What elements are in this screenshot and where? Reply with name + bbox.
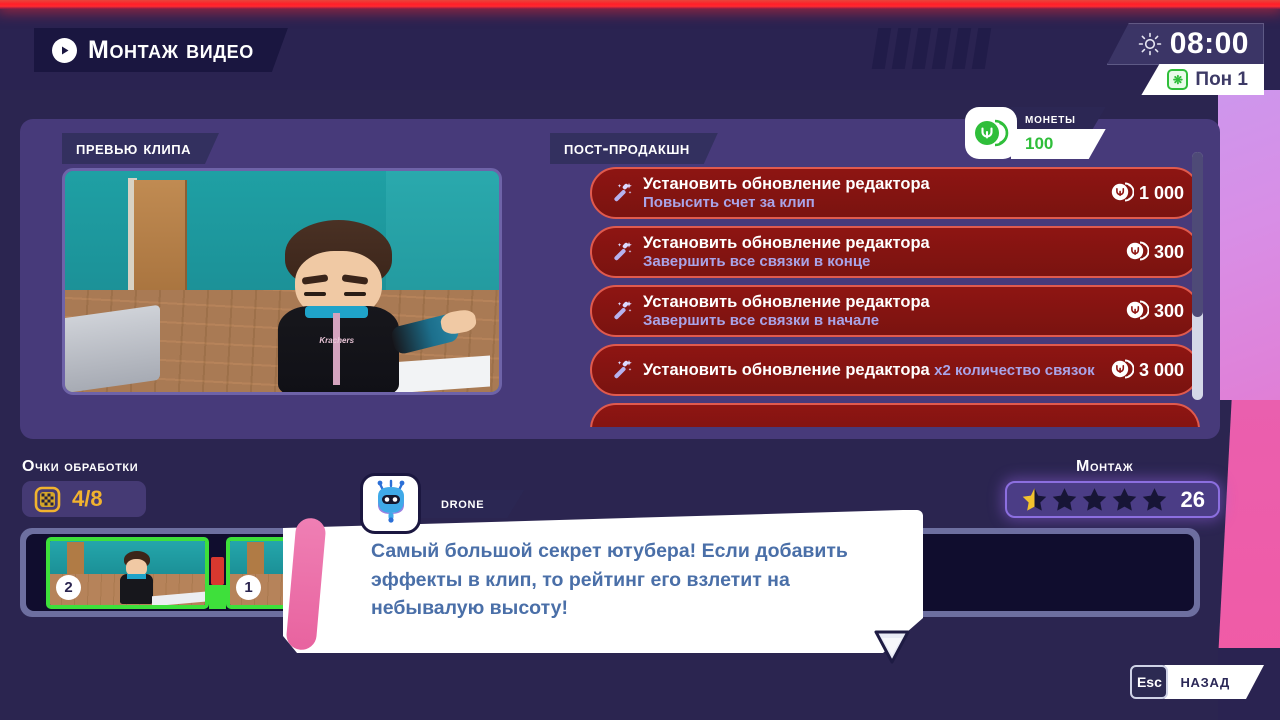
jersey-logo: Krachers — [298, 337, 374, 351]
sun-icon — [1138, 32, 1162, 56]
top-accent-stripe — [0, 0, 1280, 9]
montage-rating-value: 26 — [1181, 487, 1205, 513]
post-item-price-value: 3 000 — [1139, 360, 1184, 381]
post-item-price-value: 300 — [1154, 242, 1184, 263]
dialog-text: Самый большой секрет ютубера! Если добав… — [371, 537, 871, 623]
post-production-item[interactable]: Установить обновление редактора х2 колич… — [590, 344, 1200, 396]
day-widget: ❋ Пон 1 — [1141, 64, 1264, 95]
header-stripes-decor — [875, 28, 988, 69]
dialog-avatar — [360, 473, 421, 534]
dialog-speaker-name: Drone — [418, 490, 524, 518]
day-label: Пон 1 — [1195, 69, 1248, 91]
magic-wand-icon — [609, 298, 635, 324]
coin-icon — [1111, 182, 1134, 205]
joiner-green-marker — [209, 585, 226, 609]
post-item-price: 3 000 — [1101, 359, 1184, 382]
star-empty-icon — [1080, 486, 1109, 514]
timeline-clip-joiner[interactable] — [209, 537, 226, 609]
preview-section-header: Превью клипа — [62, 133, 219, 164]
calendar-icon: ❋ — [1167, 69, 1188, 90]
drone-avatar-icon — [370, 478, 412, 529]
post-item-price: 300 — [1116, 241, 1184, 264]
timeline-clip-number: 2 — [56, 575, 81, 600]
star-empty-icon — [1050, 486, 1079, 514]
post-item-subtitle: Завершить все связки в начале — [643, 312, 879, 329]
post-item-title: Установить обновление редактора — [643, 293, 930, 311]
montage-rating-label: Монтаж — [1076, 458, 1133, 476]
main-panel: Превью клипа Krache — [20, 119, 1220, 439]
post-item-title: Установить обновление редактора — [643, 361, 930, 379]
post-item-subtitle: Завершить все связки в конце — [643, 253, 870, 270]
clip-preview[interactable]: Krachers — [62, 168, 502, 395]
page-title-plate: Монтаж видео — [34, 28, 288, 72]
clock-time: 08:00 — [1170, 27, 1249, 61]
coin-icon — [1126, 300, 1149, 323]
post-production-item[interactable]: Установить обновление редактора Повысить… — [590, 167, 1200, 219]
post-item-price: 300 — [1116, 300, 1184, 323]
post-item-subtitle: х2 количество связок — [934, 362, 1094, 379]
montage-rating-widget: 26 — [1005, 481, 1220, 518]
rating-stars — [1020, 486, 1181, 514]
esc-key-badge: Esc — [1130, 665, 1168, 699]
next-arrow-icon[interactable] — [872, 628, 912, 666]
back-button[interactable]: Esc Назад — [1130, 663, 1264, 701]
post-production-item[interactable] — [590, 403, 1200, 427]
coins-widget: Монеты 100 — [965, 107, 1106, 159]
magic-wand-icon — [609, 357, 635, 383]
star-empty-icon — [1140, 486, 1169, 514]
play-icon — [52, 38, 77, 63]
post-item-price-value: 300 — [1154, 301, 1184, 322]
coins-label: Монеты — [1011, 107, 1106, 129]
processing-points-value: 4/8 — [72, 486, 103, 512]
post-item-title: Установить обновление редактора — [643, 175, 930, 193]
post-item-subtitle: Повысить счет за клип — [643, 194, 815, 211]
timeline-clip-number: 1 — [236, 575, 261, 600]
page-title: Монтаж видео — [88, 36, 254, 65]
magic-wand-icon — [609, 180, 635, 206]
coins-value: 100 — [1011, 129, 1106, 159]
star-half-icon — [1020, 486, 1049, 514]
post-production-item[interactable]: Установить обновление редактора Завершит… — [590, 285, 1200, 337]
processing-points-widget: 4/8 — [22, 481, 146, 517]
star-empty-icon — [1110, 486, 1139, 514]
post-production-item[interactable]: Установить обновление редактора Завершит… — [590, 226, 1200, 278]
clock-widget: 08:00 — [1107, 23, 1264, 65]
scrollbar-thumb[interactable] — [1192, 152, 1203, 317]
post-item-price-value: 1 000 — [1139, 183, 1184, 204]
coin-icon — [1126, 241, 1149, 264]
processing-dice-icon — [34, 486, 61, 513]
post-production-section-header: Пост-продакшн — [550, 133, 718, 164]
post-production-scrollbar[interactable] — [1192, 152, 1203, 400]
joiner-red-marker — [211, 557, 224, 585]
post-item-title: Установить обновление редактора — [643, 234, 930, 252]
post-item-price: 1 000 — [1101, 182, 1184, 205]
coin-icon — [965, 107, 1017, 159]
game-screen: Монтаж видео 08:00 ❋ Пон 1 — [0, 0, 1280, 720]
post-production-list[interactable]: Установить обновление редактора Повысить… — [590, 167, 1200, 427]
magic-wand-icon — [609, 239, 635, 265]
processing-points-label: Очки обработки — [22, 458, 138, 476]
timeline-clip[interactable]: 2 — [46, 537, 209, 609]
clip-preview-scene: Krachers — [65, 171, 499, 392]
back-button-label: Назад — [1164, 665, 1264, 699]
right-decorative-panel — [1218, 8, 1280, 720]
coin-icon — [1111, 359, 1134, 382]
